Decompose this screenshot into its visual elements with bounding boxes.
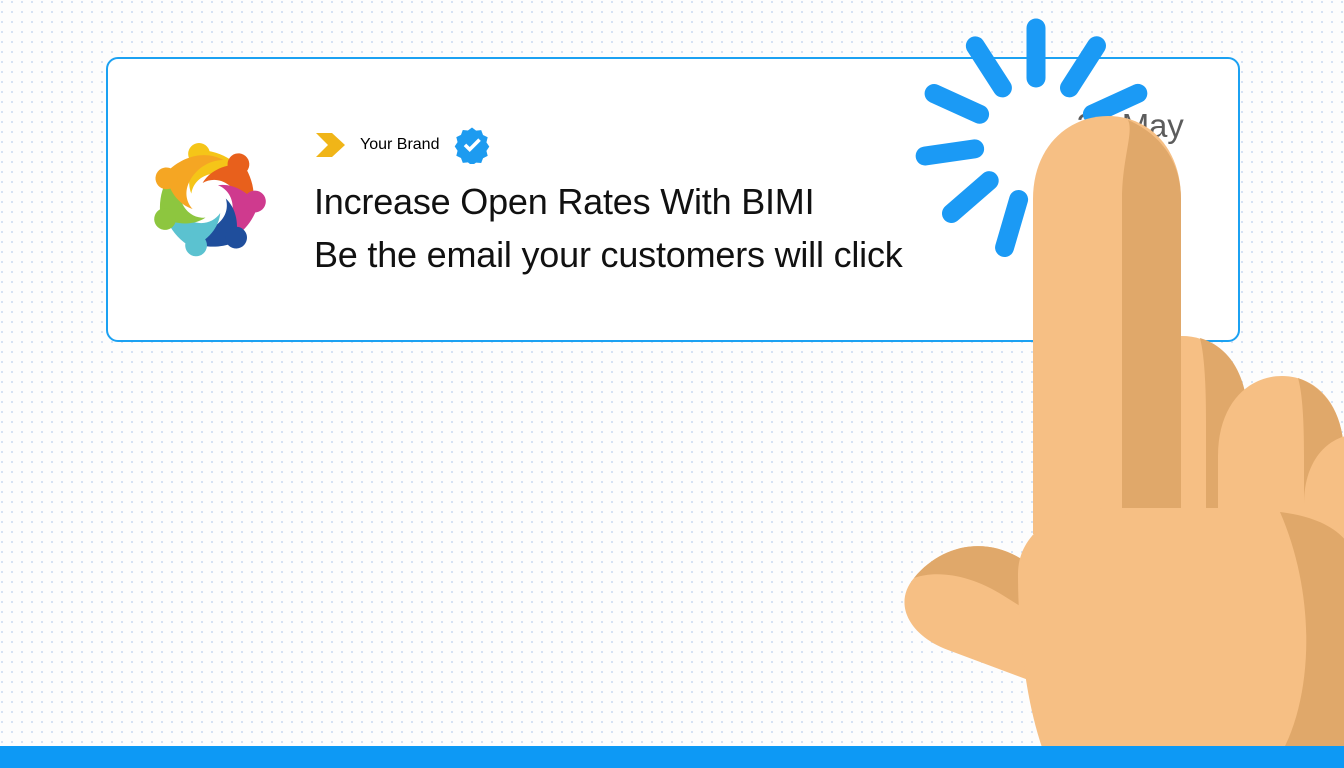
sender-name: Your Brand (360, 136, 439, 154)
bottom-accent-bar (0, 746, 1344, 768)
email-meta-column: 20 May (1050, 59, 1210, 249)
priority-chevron-icon (314, 130, 348, 160)
brand-people-circle-logo (144, 136, 272, 264)
email-row-card[interactable]: Your Brand Increase Open Rates With BIMI… (106, 57, 1240, 342)
email-subject: Increase Open Rates With BIMI (314, 179, 1050, 224)
email-preview-text: Be the email your customers will click (314, 232, 1050, 277)
favorite-star-icon[interactable] (1103, 197, 1157, 249)
sender-row: Your Brand (314, 126, 1050, 164)
email-date: 20 May (1076, 107, 1183, 145)
email-text-block: Your Brand Increase Open Rates With BIMI… (314, 122, 1050, 277)
verified-badge-icon (453, 126, 491, 164)
